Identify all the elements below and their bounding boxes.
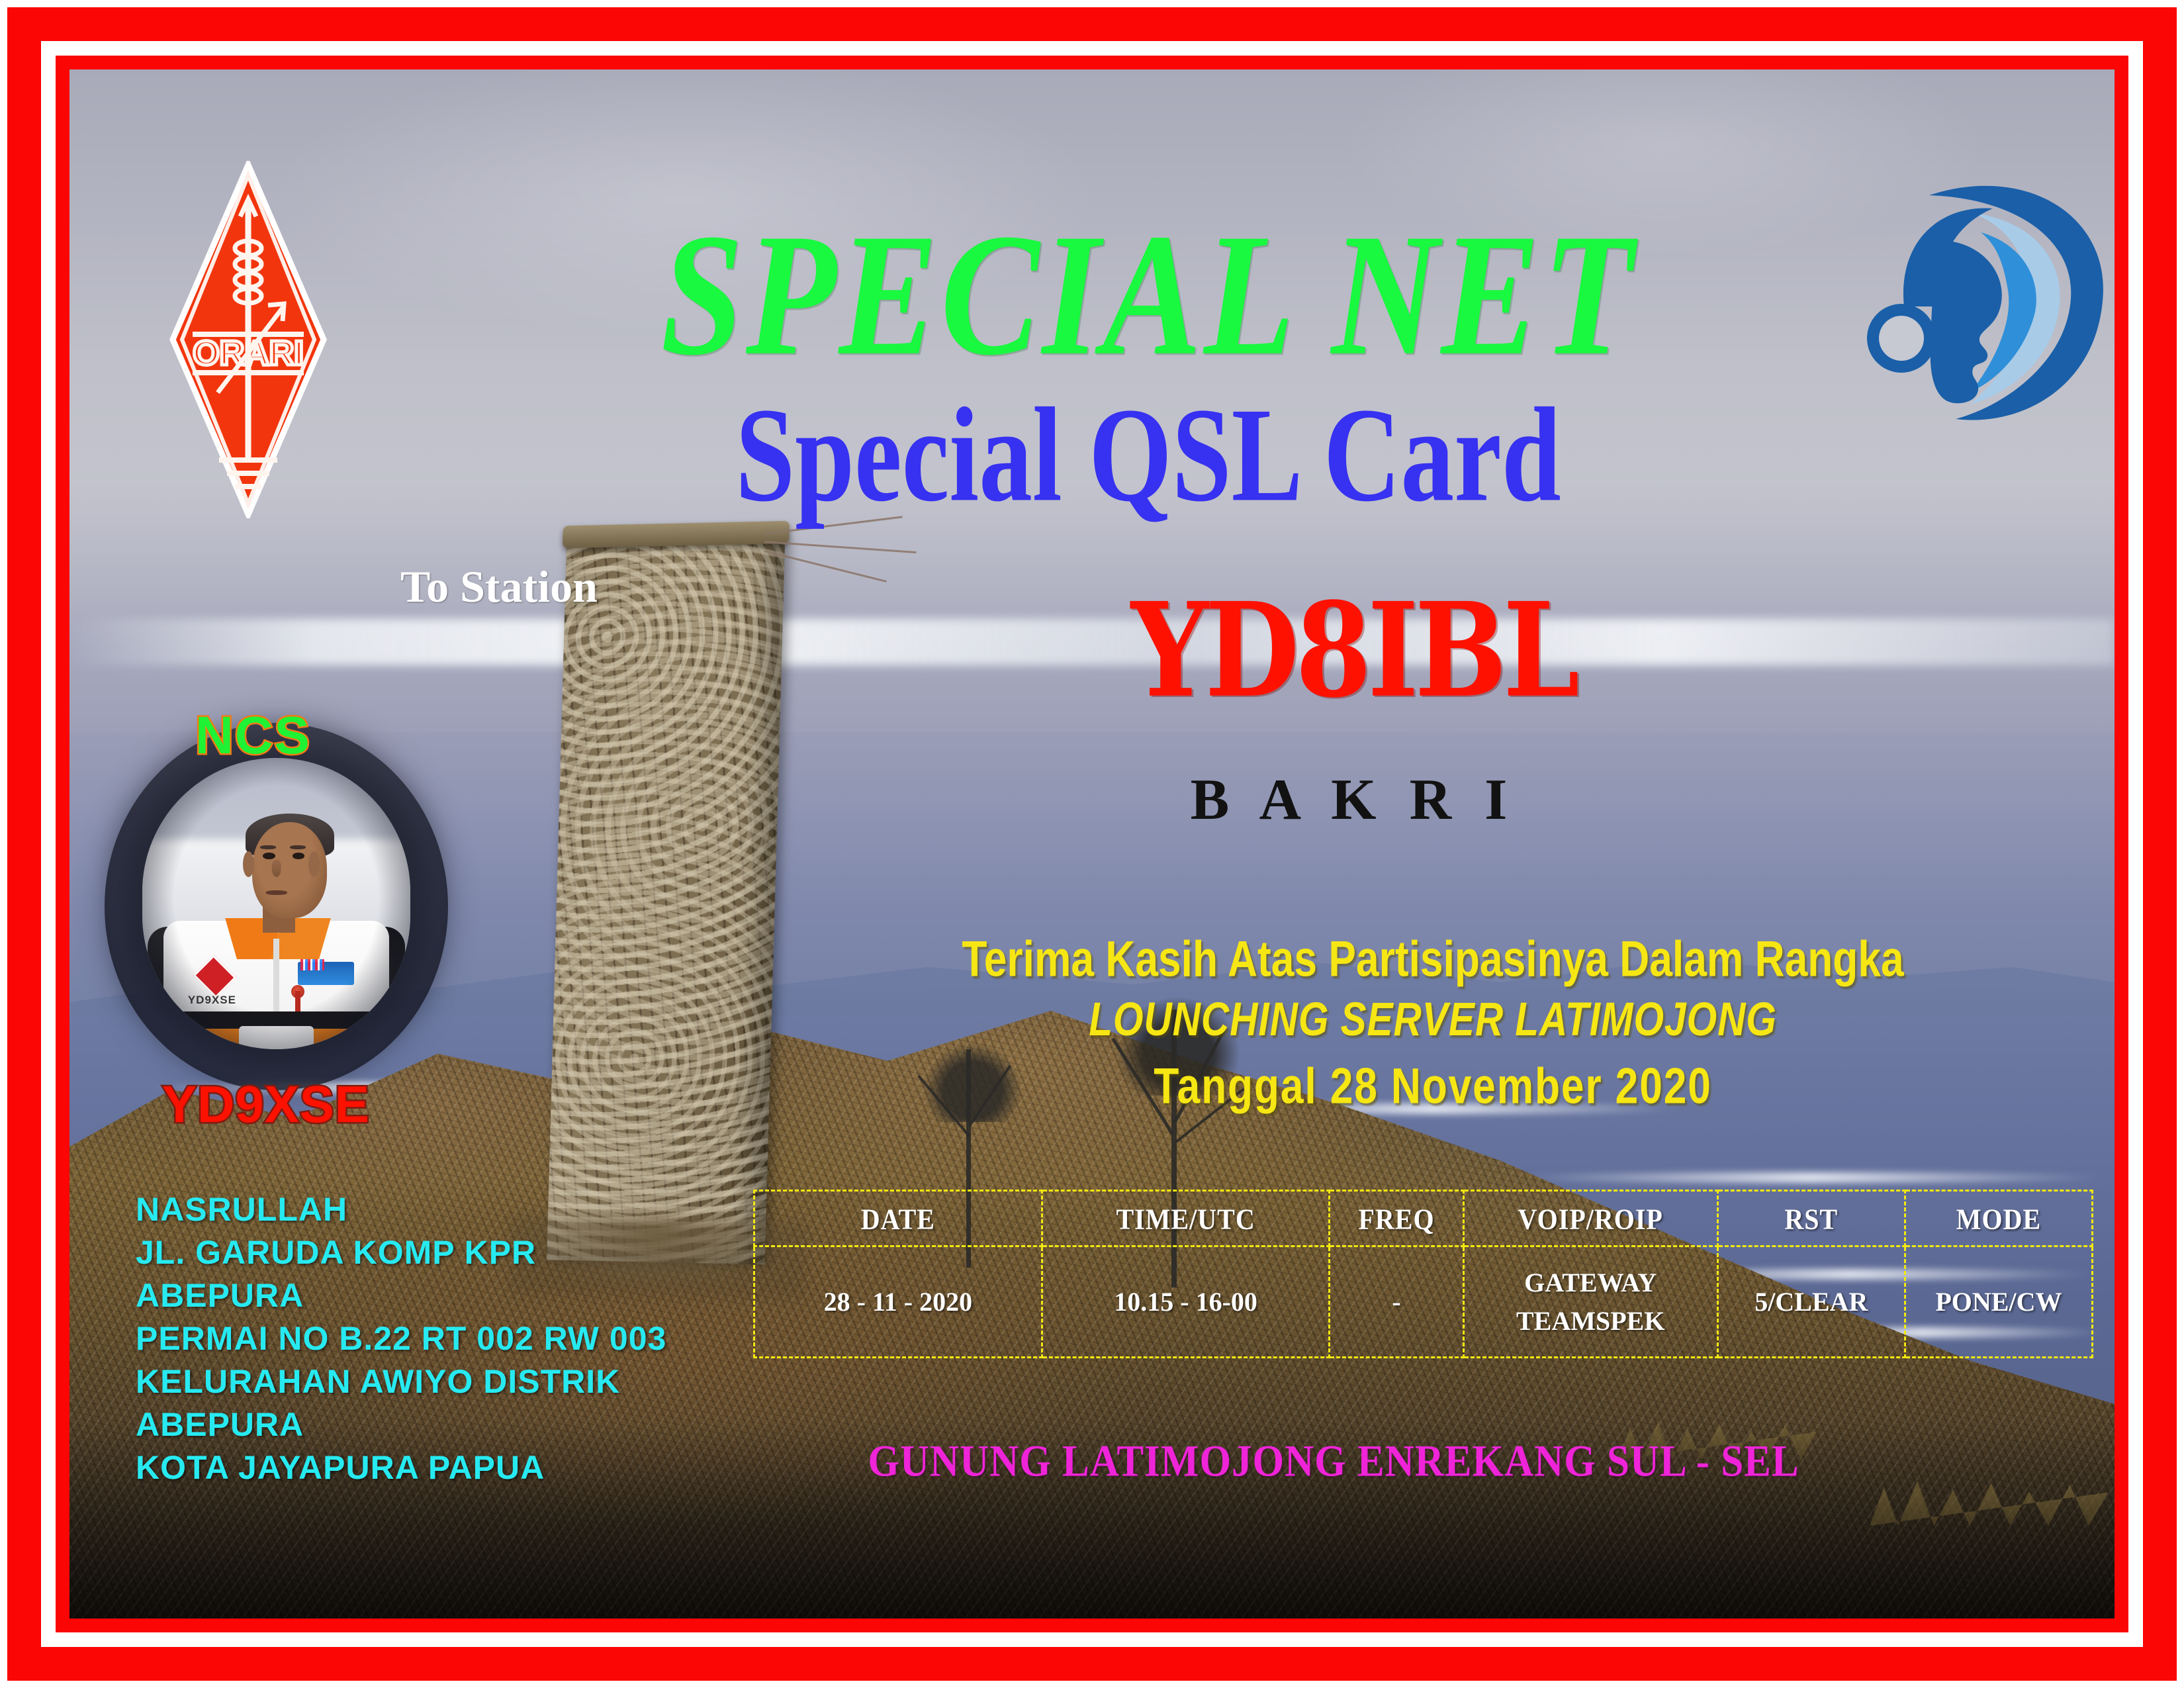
cell-voip-line-2: TEAMSPEK [1465, 1302, 1717, 1340]
cloud-wave [1512, 1172, 2108, 1183]
orari-logo-text: ORARI [193, 334, 304, 373]
operator-name: B A K R I [956, 771, 1751, 829]
cell-voip-line-1: GATEWAY [1465, 1264, 1717, 1302]
table-header-voip: VOIP/ROIP [1463, 1188, 1717, 1248]
address-line: KELURAHAN AWIYO DISTRIK [136, 1360, 666, 1403]
location-label: GUNUNG LATIMOJONG ENREKANG SUL - SEL [724, 1435, 1944, 1487]
page-subtitle: Special QSL Card [557, 387, 1739, 522]
callsign: YD8IBL [980, 586, 1727, 716]
portrait-ear-left [243, 851, 254, 878]
table-header-rst: RST [1717, 1188, 1905, 1248]
background-photo: YD9XSE [69, 70, 2115, 1618]
thanks-line-2: LOUNCHING SERVER LATIMOJONG [817, 992, 2048, 1047]
cell-date: 28 - 11 - 2020 [754, 1246, 1042, 1358]
table-header-mode: MODE [1905, 1188, 2092, 1248]
portrait-brow-left [260, 845, 276, 849]
stone-cairn-pillar [547, 532, 786, 1264]
qsl-card: YD9XSE [0, 0, 2184, 1688]
page-title: SPECIAL NET [526, 207, 1770, 382]
orari-diamond-icon: ORARI [169, 161, 328, 518]
cell-mode: PONE/CW [1905, 1246, 2092, 1358]
portrait-nose [271, 860, 281, 877]
to-station-label: To Station [400, 561, 598, 613]
table-header-date: DATE [754, 1188, 1042, 1248]
log-table: DATE TIME/UTC FREQ VOIP/ROIP RST MODE 28… [753, 1190, 2093, 1358]
address-line: NASRULLAH [136, 1188, 666, 1231]
jacket-logo-dots [300, 959, 324, 971]
table-header-row: DATE TIME/UTC FREQ VOIP/ROIP RST MODE [754, 1191, 2093, 1246]
address-line: ABEPURA [136, 1274, 666, 1317]
portrait-photo: YD9XSE [142, 758, 410, 1049]
voip-headphone-face-logo [1856, 169, 2108, 427]
address-line: JL. GARUDA KOMP KPR [136, 1231, 666, 1274]
portrait-mouth [265, 890, 287, 895]
address-block: NASRULLAH JL. GARUDA KOMP KPR ABEPURA PE… [136, 1188, 666, 1489]
cell-time: 10.15 - 16-00 [1042, 1246, 1330, 1358]
table-header-freq: FREQ [1330, 1188, 1463, 1248]
address-line: PERMAI NO B.22 RT 002 RW 003 [136, 1317, 666, 1360]
portrait-eye-right [293, 853, 305, 859]
address-line: KOTA JAYAPURA PAPUA [136, 1446, 666, 1489]
cell-rst: 5/CLEAR [1717, 1246, 1905, 1358]
cell-voip: GATEWAY TEAMSPEK [1463, 1246, 1717, 1358]
jacket-hem-center [239, 1026, 314, 1049]
ncs-portrait: YD9XSE [142, 758, 410, 1049]
jacket-callsign-text: YD9XSE [188, 994, 236, 1007]
address-line: ABEPURA [136, 1403, 666, 1446]
thanks-line-1: Terima Kasih Atas Partisipasinya Dalam R… [817, 930, 2048, 988]
thanks-line-3: Tanggal 28 November 2020 [817, 1057, 2048, 1115]
ncs-callsign: YD9XSE [162, 1074, 370, 1135]
cell-freq: - [1330, 1246, 1463, 1358]
table-row: 28 - 11 - 2020 10.15 - 16-00 - GATEWAY T… [754, 1246, 2093, 1358]
portrait-eye-left [263, 853, 275, 859]
ncs-label: NCS [195, 705, 311, 766]
headphone-face-icon [1856, 169, 2108, 427]
table-header-time: TIME/UTC [1042, 1188, 1330, 1248]
orari-logo: ORARI [169, 161, 328, 518]
portrait-brow-right [290, 845, 306, 849]
